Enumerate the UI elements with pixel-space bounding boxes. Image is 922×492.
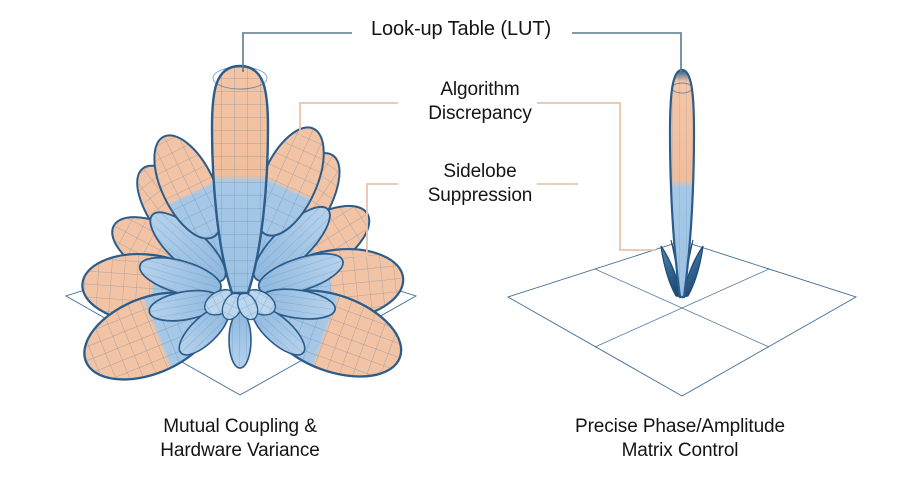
algorithm-discrepancy-label: Algorithm Discrepancy — [330, 78, 630, 127]
diagram-canvas: Look-up Table (LUT) Algorithm Discrepanc… — [0, 0, 922, 492]
right-panel-caption: Precise Phase/Amplitude Matrix Control — [530, 415, 830, 464]
sidelobe-suppression-label: Sidelobe Suppression — [330, 160, 630, 209]
left-panel-caption: Mutual Coupling & Hardware Variance — [90, 415, 390, 464]
right-radiation-pattern — [661, 70, 703, 297]
lut-title-label: Look-up Table (LUT) — [261, 17, 661, 43]
